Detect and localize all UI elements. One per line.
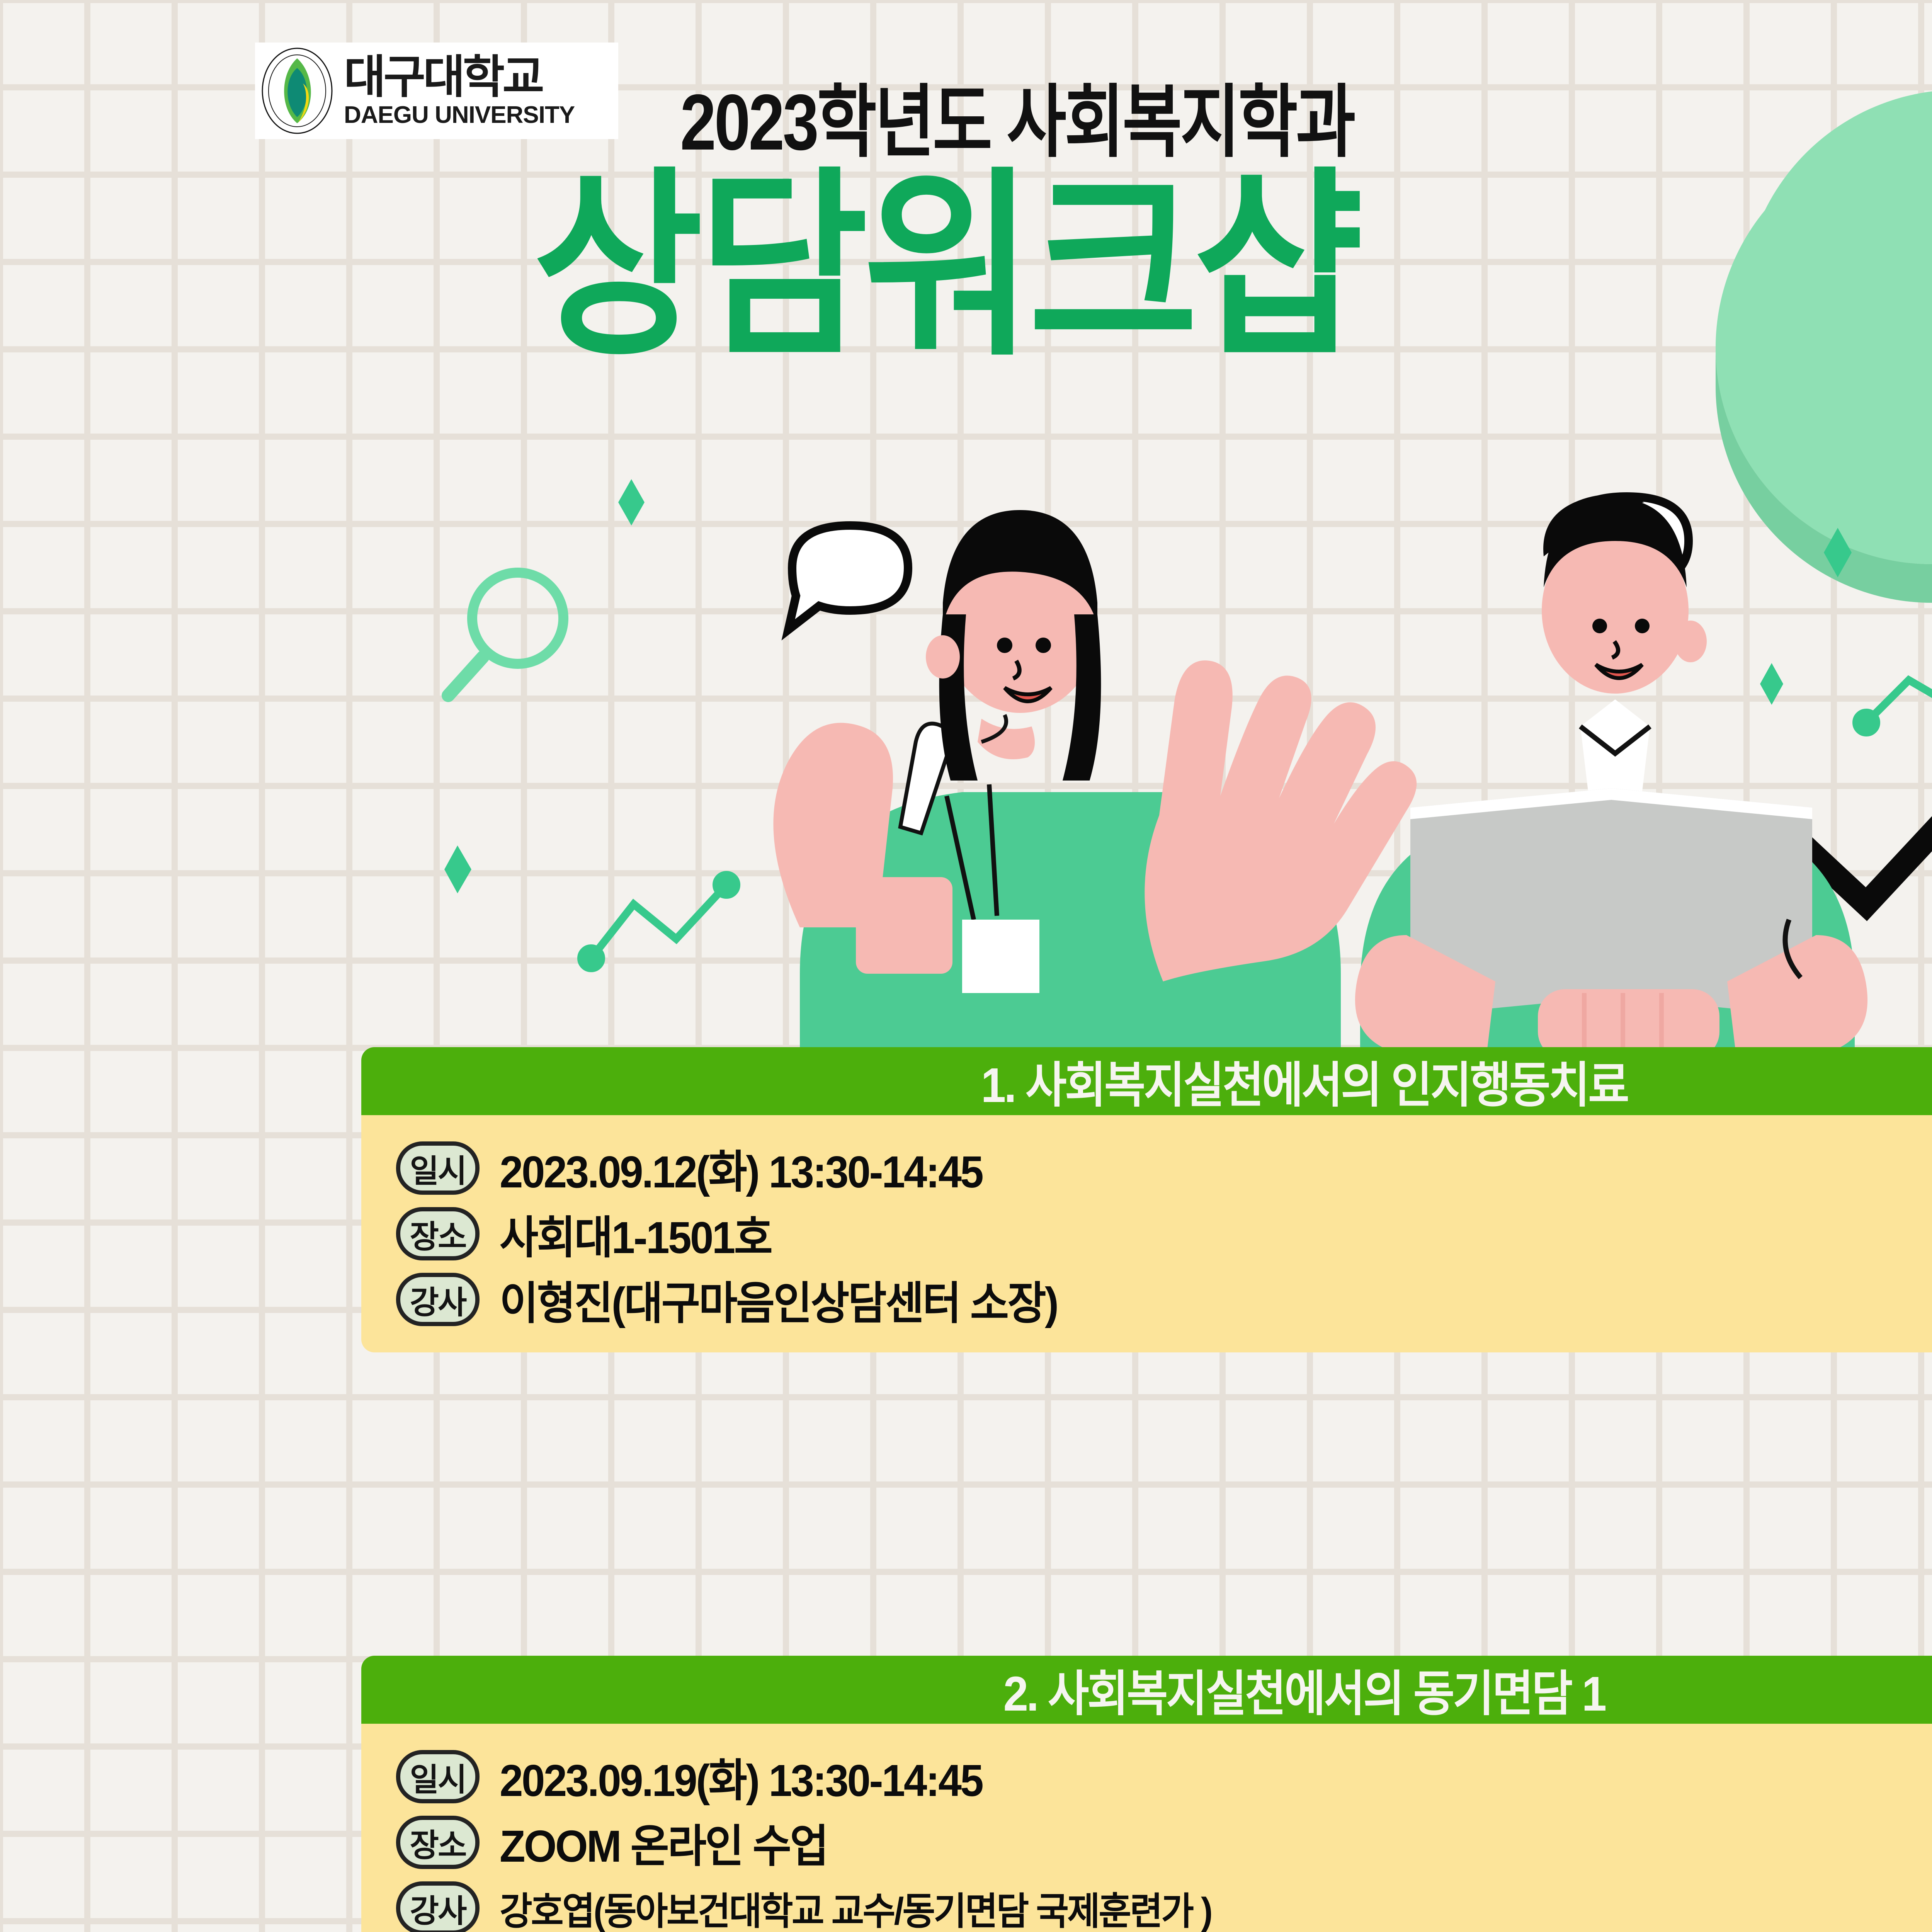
session-2-row-instructor: 강사 강호엽(동아보건대학교 교수/동기면담 국제훈련가 ) xyxy=(396,1875,1932,1932)
label-badge-place: 장소 xyxy=(396,1816,480,1869)
label-badge-date: 일시 xyxy=(396,1141,480,1195)
session-2-body: 일시 2023.09.19(화) 13:30-14:45 장소 ZOOM 온라인… xyxy=(361,1724,1932,1932)
session-2-date-value: 2023.09.19(화) 13:30-14:45 xyxy=(500,1744,982,1809)
session-2-place-value: ZOOM 온라인 수업 xyxy=(500,1810,827,1875)
label-badge-place: 장소 xyxy=(396,1207,480,1260)
daegu-university-logo: 대구대학교 DAEGU UNIVERSITY xyxy=(255,43,618,139)
session-1-title: 1. 사회복지실천에서의 인지행동치료 xyxy=(981,1046,1627,1116)
session-1-row-date: 일시 2023.09.12(화) 13:30-14:45 xyxy=(396,1135,1932,1201)
speech-bubble-icon xyxy=(788,526,908,630)
poster-main-title: 상담워크샵 xyxy=(533,166,1920,367)
label-badge-date: 일시 xyxy=(396,1750,480,1803)
label-badge-instructor: 강사 xyxy=(396,1273,480,1326)
daegu-university-seal-icon xyxy=(260,47,334,135)
du-logo-name-en: DAEGU UNIVERSITY xyxy=(344,103,575,127)
label-badge-instructor: 강사 xyxy=(396,1881,480,1932)
session-card-2: 2. 사회복지실천에서의 동기면담 1 일시 2023.09.19(화) 13:… xyxy=(361,1656,1932,1932)
line-chart-icon xyxy=(581,875,736,968)
session-1-row-instructor: 강사 이형진(대구마음인상담센터 소장) xyxy=(396,1267,1932,1332)
du-logo-name-kr: 대구대학교 xyxy=(344,54,575,100)
session-2-row-date: 일시 2023.09.19(화) 13:30-14:45 xyxy=(396,1744,1932,1810)
session-2-title: 2. 사회복지실천에서의 동기면담 1 xyxy=(1003,1655,1605,1725)
session-1-instructor-value: 이형진(대구마음인상담센터 소장) xyxy=(500,1267,1057,1332)
line-chart-right-icon xyxy=(1856,647,1932,733)
character-man-with-book xyxy=(1355,495,1867,1128)
session-2-header: 2. 사회복지실천에서의 동기면담 1 xyxy=(361,1656,1932,1724)
session-card-1: 1. 사회복지실천에서의 인지행동치료 일시 2023.09.12(화) 13:… xyxy=(361,1047,1932,1352)
session-1-place-value: 사회대1-1501호 xyxy=(500,1201,771,1266)
session-1-row-place: 장소 사회대1-1501호 xyxy=(396,1201,1932,1267)
session-2-row-place: 장소 ZOOM 온라인 수업 xyxy=(396,1810,1932,1875)
session-1-body: 일시 2023.09.12(화) 13:30-14:45 장소 사회대1-150… xyxy=(361,1115,1932,1352)
magnifier-icon xyxy=(448,573,563,696)
session-1-header: 1. 사회복지실천에서의 인지행동치료 xyxy=(361,1047,1932,1115)
session-1-date-value: 2023.09.12(화) 13:30-14:45 xyxy=(500,1136,982,1201)
session-2-instructor-value: 강호엽(동아보건대학교 교수/동기면담 국제훈련가 ) xyxy=(500,1881,1211,1932)
